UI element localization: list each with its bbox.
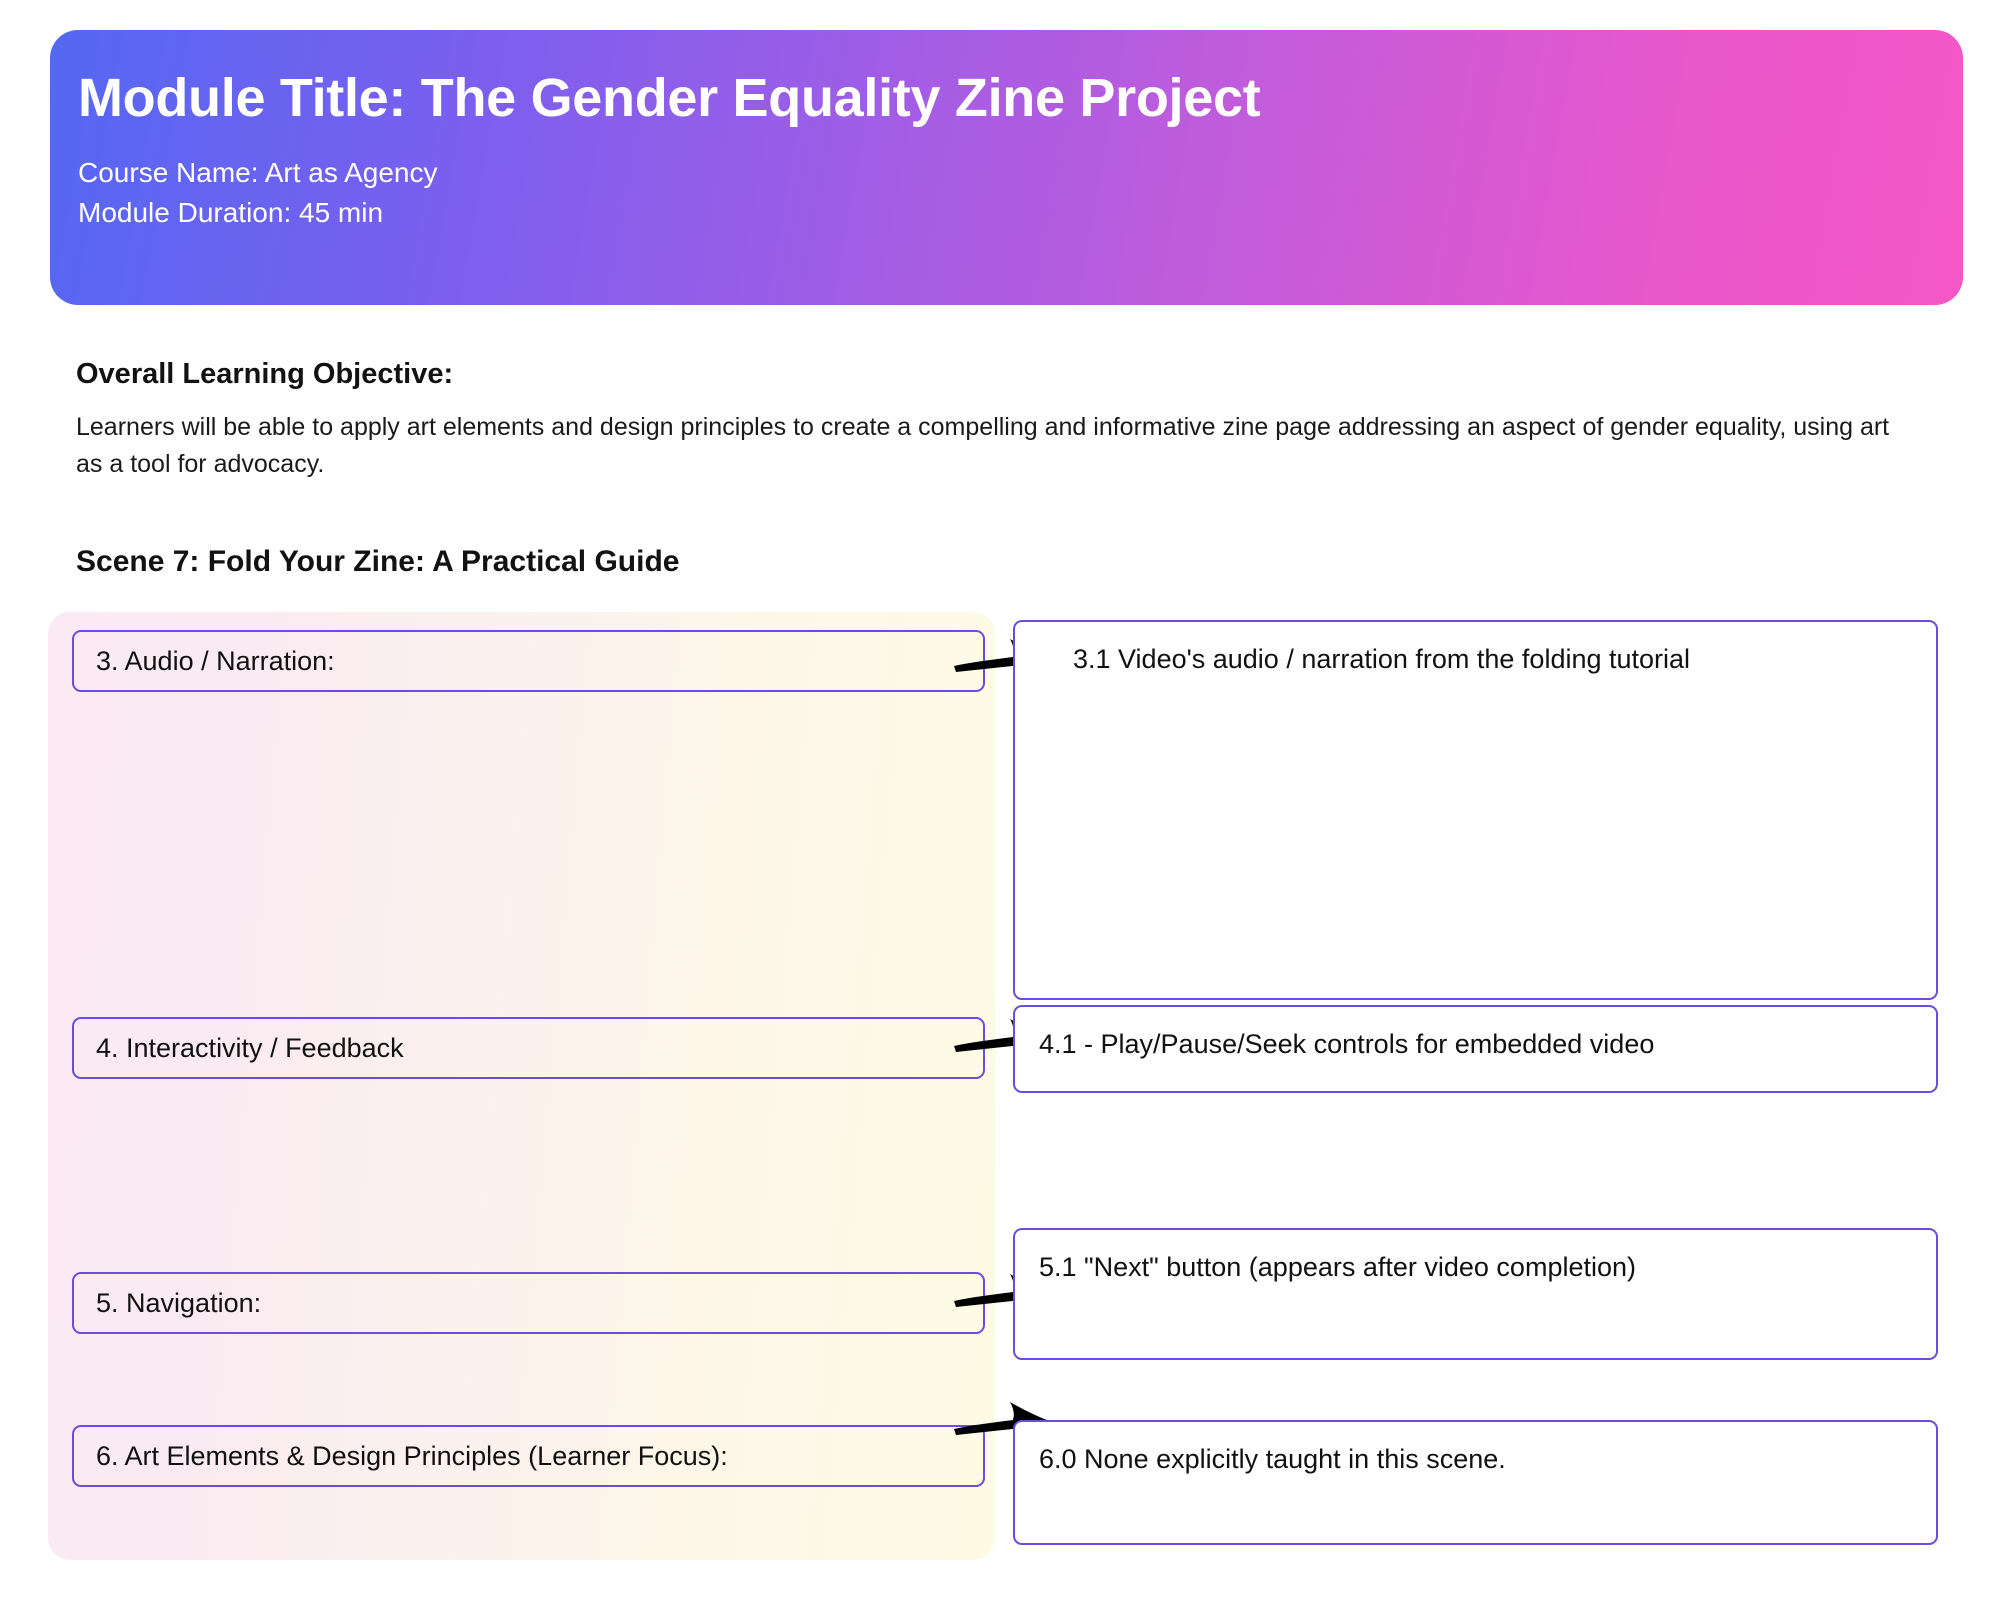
- aspect-label: 6. Art Elements & Design Principles (Lea…: [96, 1441, 728, 1472]
- aspect-label: 5. Navigation:: [96, 1288, 261, 1319]
- aspect-label: 4. Interactivity / Feedback: [96, 1033, 404, 1064]
- detail-text: 3.1 Video's audio / narration from the f…: [1015, 622, 1936, 675]
- detail-text: 6.0 None explicitly taught in this scene…: [1015, 1422, 1936, 1475]
- detail-text: 4.1 - Play/Pause/Seek controls for embed…: [1015, 1007, 1936, 1060]
- aspect-label: 3. Audio / Narration:: [96, 646, 335, 677]
- detail-box-navigation[interactable]: 5.1 "Next" button (appears after video c…: [1013, 1228, 1938, 1360]
- aspect-box-navigation[interactable]: 5. Navigation:: [72, 1272, 985, 1334]
- detail-box-art-elements-design-principles[interactable]: 6.0 None explicitly taught in this scene…: [1013, 1420, 1938, 1545]
- detail-box-audio-narration[interactable]: 3.1 Video's audio / narration from the f…: [1013, 620, 1938, 1000]
- detail-text: 5.1 "Next" button (appears after video c…: [1015, 1230, 1936, 1283]
- aspect-box-interactivity-feedback[interactable]: 4. Interactivity / Feedback: [72, 1017, 985, 1079]
- aspect-box-audio-narration[interactable]: 3. Audio / Narration:: [72, 630, 985, 692]
- aspect-box-art-elements-design-principles[interactable]: 6. Art Elements & Design Principles (Lea…: [72, 1425, 985, 1487]
- scene-flow-diagram: 3. Audio / Narration: 3.1 Video's audio …: [0, 0, 2000, 1600]
- detail-box-interactivity-feedback[interactable]: 4.1 - Play/Pause/Seek controls for embed…: [1013, 1005, 1938, 1093]
- scene-aspects-panel: [48, 612, 995, 1560]
